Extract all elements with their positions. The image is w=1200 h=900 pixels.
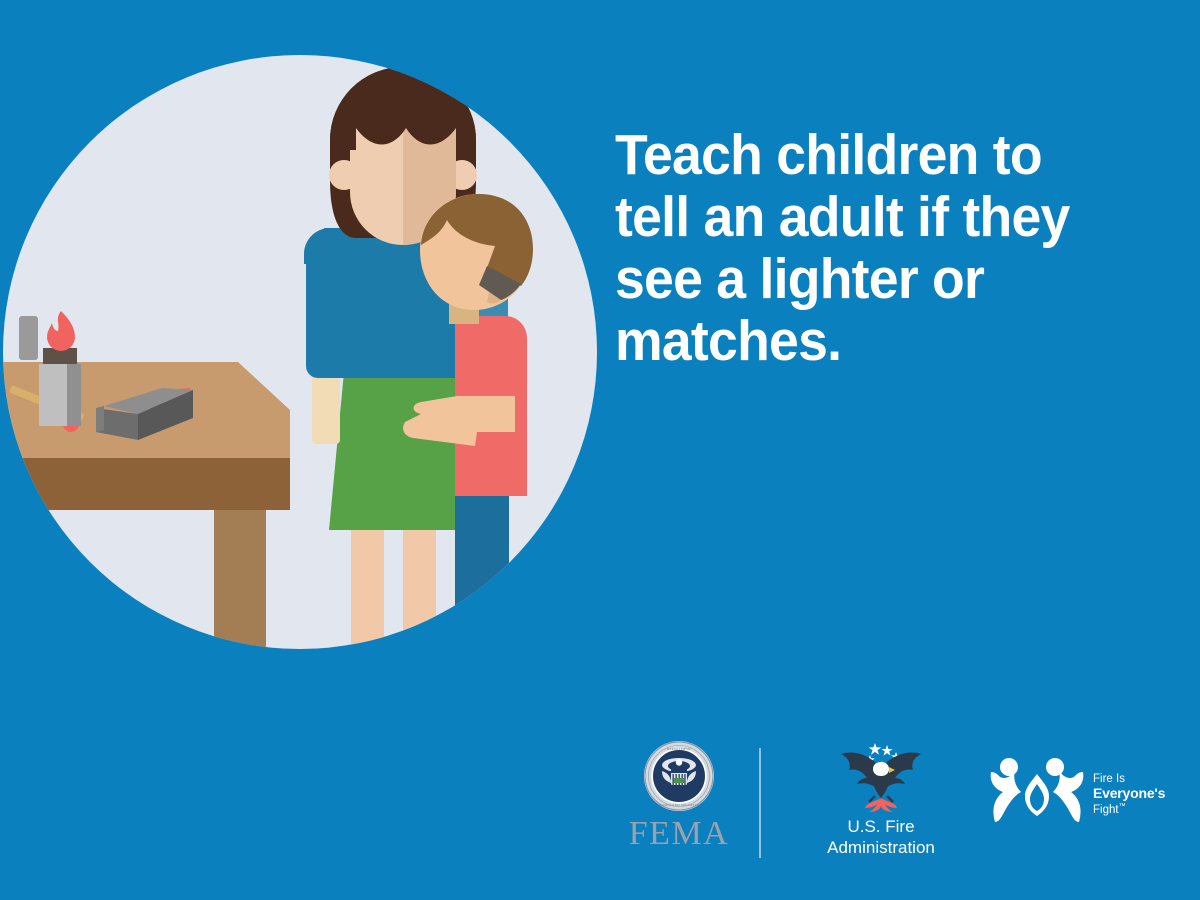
fema-logo[interactable]: DEPARTMENT HOMELAND SECURITY: [618, 740, 740, 852]
table-apron: [0, 458, 290, 510]
fire-safety-poster: Teach children to tell an adult if they …: [0, 0, 1200, 900]
lighter-lid: [19, 316, 38, 360]
svg-text:HOMELAND SECURITY: HOMELAND SECURITY: [659, 803, 700, 807]
usfa-wordmark: U.S. Fire Administration: [786, 816, 976, 858]
fief-line-1: Fire Is: [1093, 772, 1165, 786]
headline: Teach children to tell an adult if they …: [615, 124, 1123, 372]
fief-line-3: Fight: [1093, 804, 1119, 816]
svg-text:DEPARTMENT: DEPARTMENT: [667, 747, 692, 751]
logo-bar: DEPARTMENT HOMELAND SECURITY: [600, 738, 1160, 860]
usfa-logo[interactable]: U.S. Fire Administration: [786, 740, 976, 858]
boy-pants: [455, 488, 509, 610]
woman-skirt: [329, 372, 474, 530]
fire-is-everyones-fight-wordmark: Fire Is Everyone's Fight™: [1093, 772, 1165, 817]
woman-sleeve-left: [306, 246, 336, 378]
illustration-svg: [0, 0, 620, 700]
fire-is-everyones-fight-logo[interactable]: Fire Is Everyone's Fight™: [985, 754, 1160, 836]
fief-trademark: ™: [1119, 803, 1126, 810]
lighter-body-light: [39, 364, 67, 426]
fire-is-everyones-fight-mark-icon: [985, 754, 1089, 826]
illustration: [0, 0, 620, 700]
woman-sleeve-cuff-left: [312, 372, 340, 444]
lighter-body-dark: [67, 364, 81, 426]
logo-divider: [759, 748, 761, 858]
matchbox-sleeve-left: [96, 406, 104, 432]
fief-line-2: Everyone's: [1093, 786, 1165, 800]
dhs-seal-icon: DEPARTMENT HOMELAND SECURITY: [643, 740, 715, 812]
table-leg: [214, 510, 266, 670]
fema-wordmark: FEMA: [618, 816, 740, 852]
usfa-eagle-icon: [825, 740, 937, 814]
